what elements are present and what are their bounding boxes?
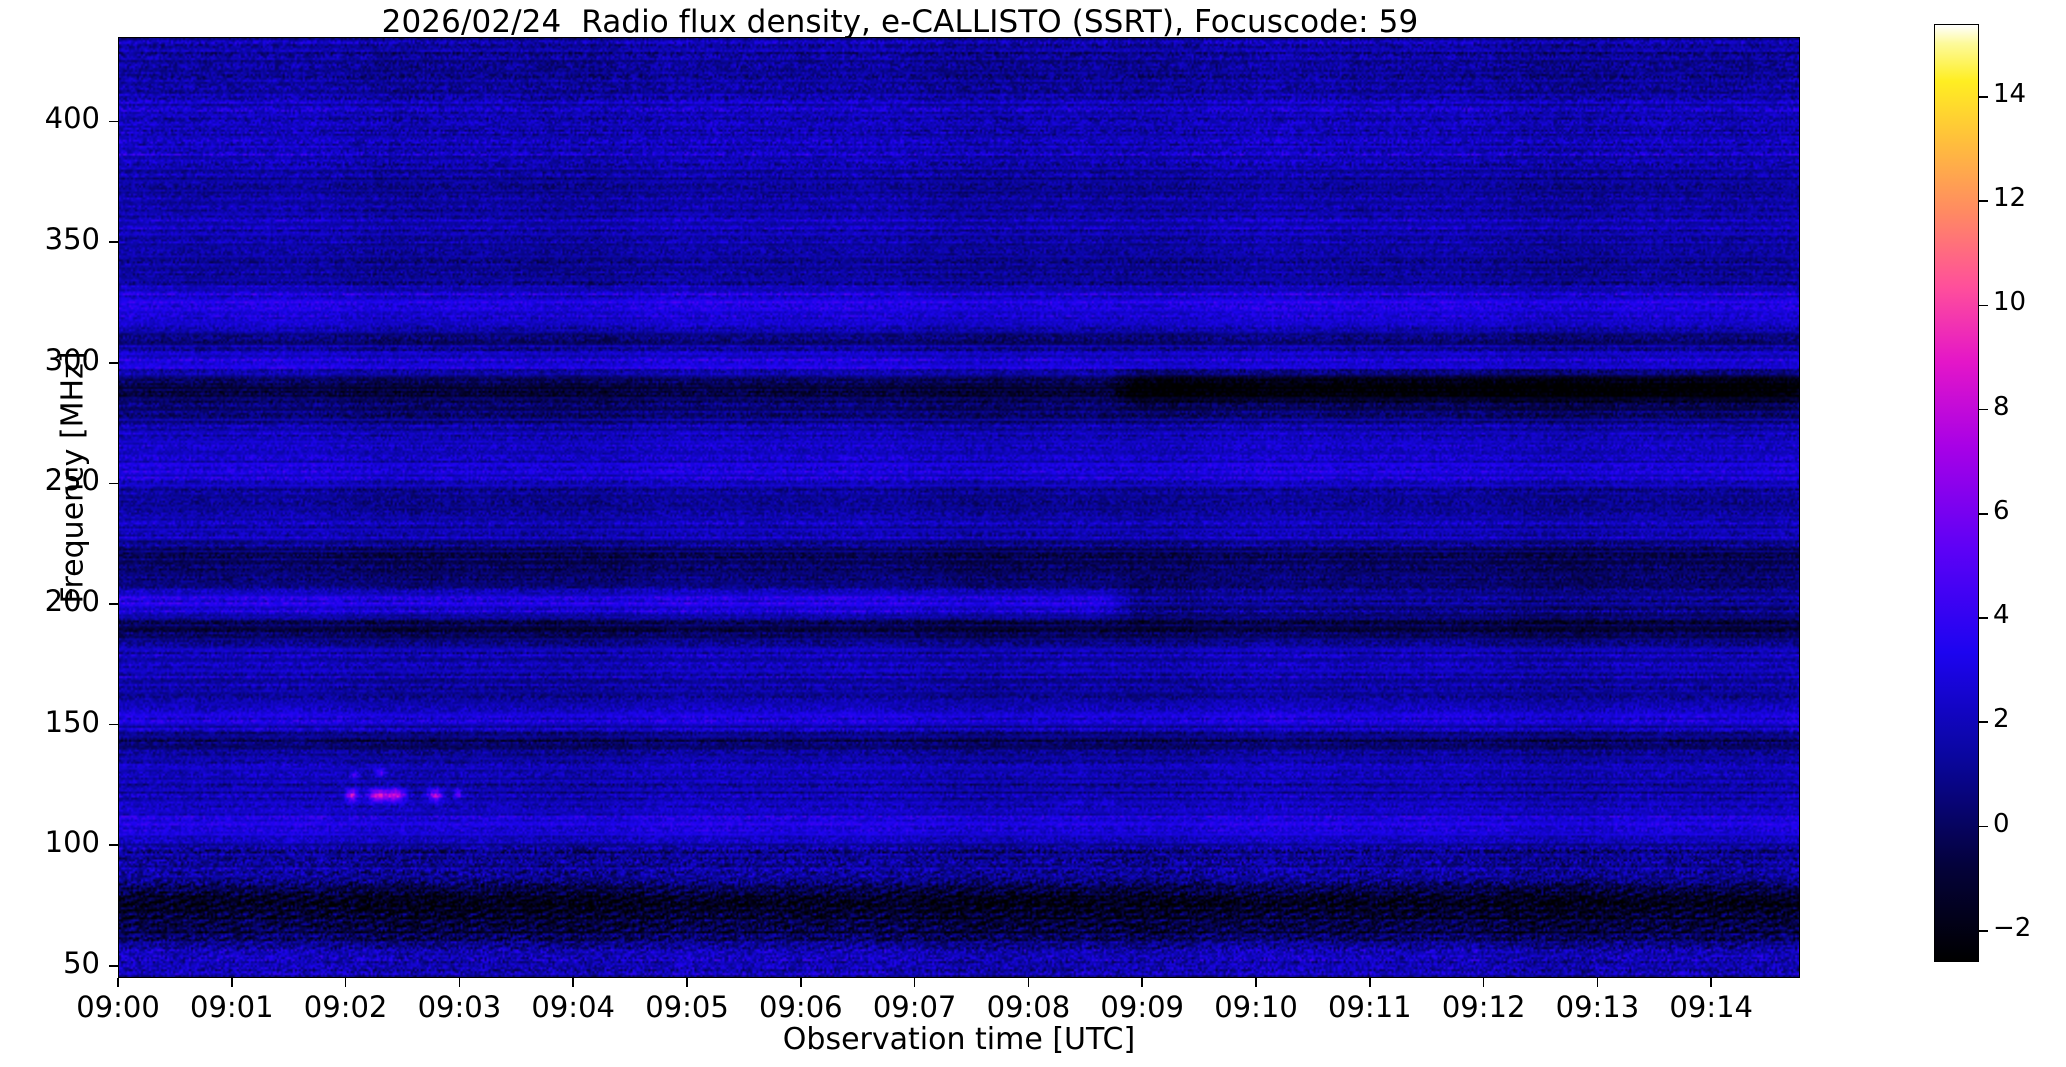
x-tick-mark [459,978,461,987]
y-tick-mark [109,121,118,123]
x-tick-mark [345,978,347,987]
colorbar-tick-mark [1979,305,1988,307]
y-tick-mark [109,483,118,485]
x-axis-title: Observation time [UTC] [118,1022,1800,1057]
figure-root: 2026/02/24 Radio flux density, e-CALLIST… [0,0,2066,1067]
colorbar-tick-label: 12 [1993,183,2026,213]
y-tick-label: 150 [0,705,100,739]
colorbar-tick-label: −2 [1993,913,2031,943]
x-tick-mark [800,978,802,987]
y-tick-mark [109,965,118,967]
y-tick-mark [109,362,118,364]
spectrogram-image [119,38,1799,977]
x-tick-mark [914,978,916,987]
colorbar-tick-mark [1979,826,1988,828]
colorbar-tick-mark [1979,200,1988,202]
colorbar-tick-mark [1979,617,1988,619]
colorbar-tick-label: 8 [1993,392,2010,422]
y-tick-mark [109,603,118,605]
x-tick-mark [117,978,119,987]
colorbar-tick-label: 6 [1993,496,2010,526]
y-tick-label: 300 [0,343,100,377]
colorbar-tick-label: 10 [1993,287,2026,317]
x-tick-mark [572,978,574,987]
x-tick-mark [1255,978,1257,987]
spectrogram-plot-area[interactable] [118,37,1800,978]
colorbar-tick-label: 2 [1993,704,2010,734]
colorbar-tick-mark [1979,409,1988,411]
y-tick-label: 200 [0,584,100,618]
colorbar[interactable] [1934,24,1979,962]
x-tick-mark [686,978,688,987]
y-tick-label: 350 [0,222,100,256]
x-tick-mark [1028,978,1030,987]
colorbar-tick-mark [1979,930,1988,932]
colorbar-tick-label: 0 [1993,809,2010,839]
y-tick-label: 100 [0,825,100,859]
y-tick-mark [109,241,118,243]
x-tick-mark [1597,978,1599,987]
y-tick-label: 250 [0,463,100,497]
colorbar-tick-mark [1979,513,1988,515]
figure-title: 2026/02/24 Radio flux density, e-CALLIST… [0,4,1800,40]
x-tick-mark [1710,978,1712,987]
y-tick-mark [109,844,118,846]
y-tick-label: 400 [0,101,100,135]
x-tick-mark [231,978,233,987]
y-tick-mark [109,724,118,726]
x-tick-mark [1141,978,1143,987]
x-tick-label: 09:14 [1641,990,1781,1024]
x-tick-mark [1369,978,1371,987]
x-tick-mark [1483,978,1485,987]
colorbar-gradient [1935,25,1978,961]
colorbar-tick-mark [1979,721,1988,723]
colorbar-tick-label: 14 [1993,79,2026,109]
y-tick-label: 50 [0,946,100,980]
colorbar-tick-label: 4 [1993,600,2010,630]
colorbar-tick-mark [1979,96,1988,98]
